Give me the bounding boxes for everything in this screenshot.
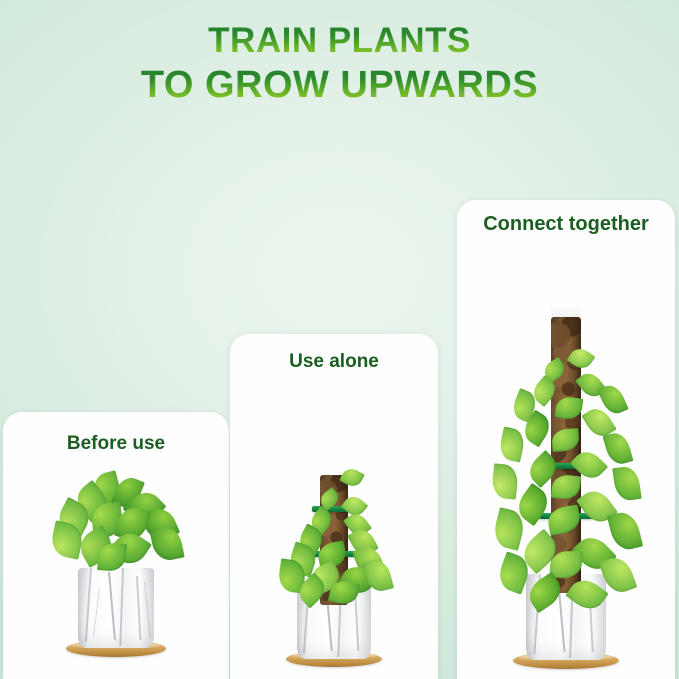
plant-scene-use-alone xyxy=(230,367,438,679)
card-connect-together: Connect together xyxy=(457,200,675,679)
marble-pot xyxy=(78,568,154,648)
product-infographic: TRAIN PLANTS TO GROW UPWARDS Before use xyxy=(0,0,679,679)
pole-cap xyxy=(551,305,581,317)
card-before-use: Before use xyxy=(3,412,229,679)
plant-scene-connect-together xyxy=(457,237,675,679)
pothos-foliage xyxy=(34,473,198,579)
title-line-1: TRAIN PLANTS xyxy=(0,22,679,60)
title-line-2: TO GROW UPWARDS xyxy=(0,65,679,106)
pothos-foliage xyxy=(466,345,666,615)
page-title: TRAIN PLANTS TO GROW UPWARDS xyxy=(0,22,679,105)
card-use-alone: Use alone xyxy=(230,334,438,679)
plant-scene-before-use xyxy=(3,447,229,679)
card-label-connect-together: Connect together xyxy=(457,213,675,236)
pothos-foliage xyxy=(254,467,414,602)
